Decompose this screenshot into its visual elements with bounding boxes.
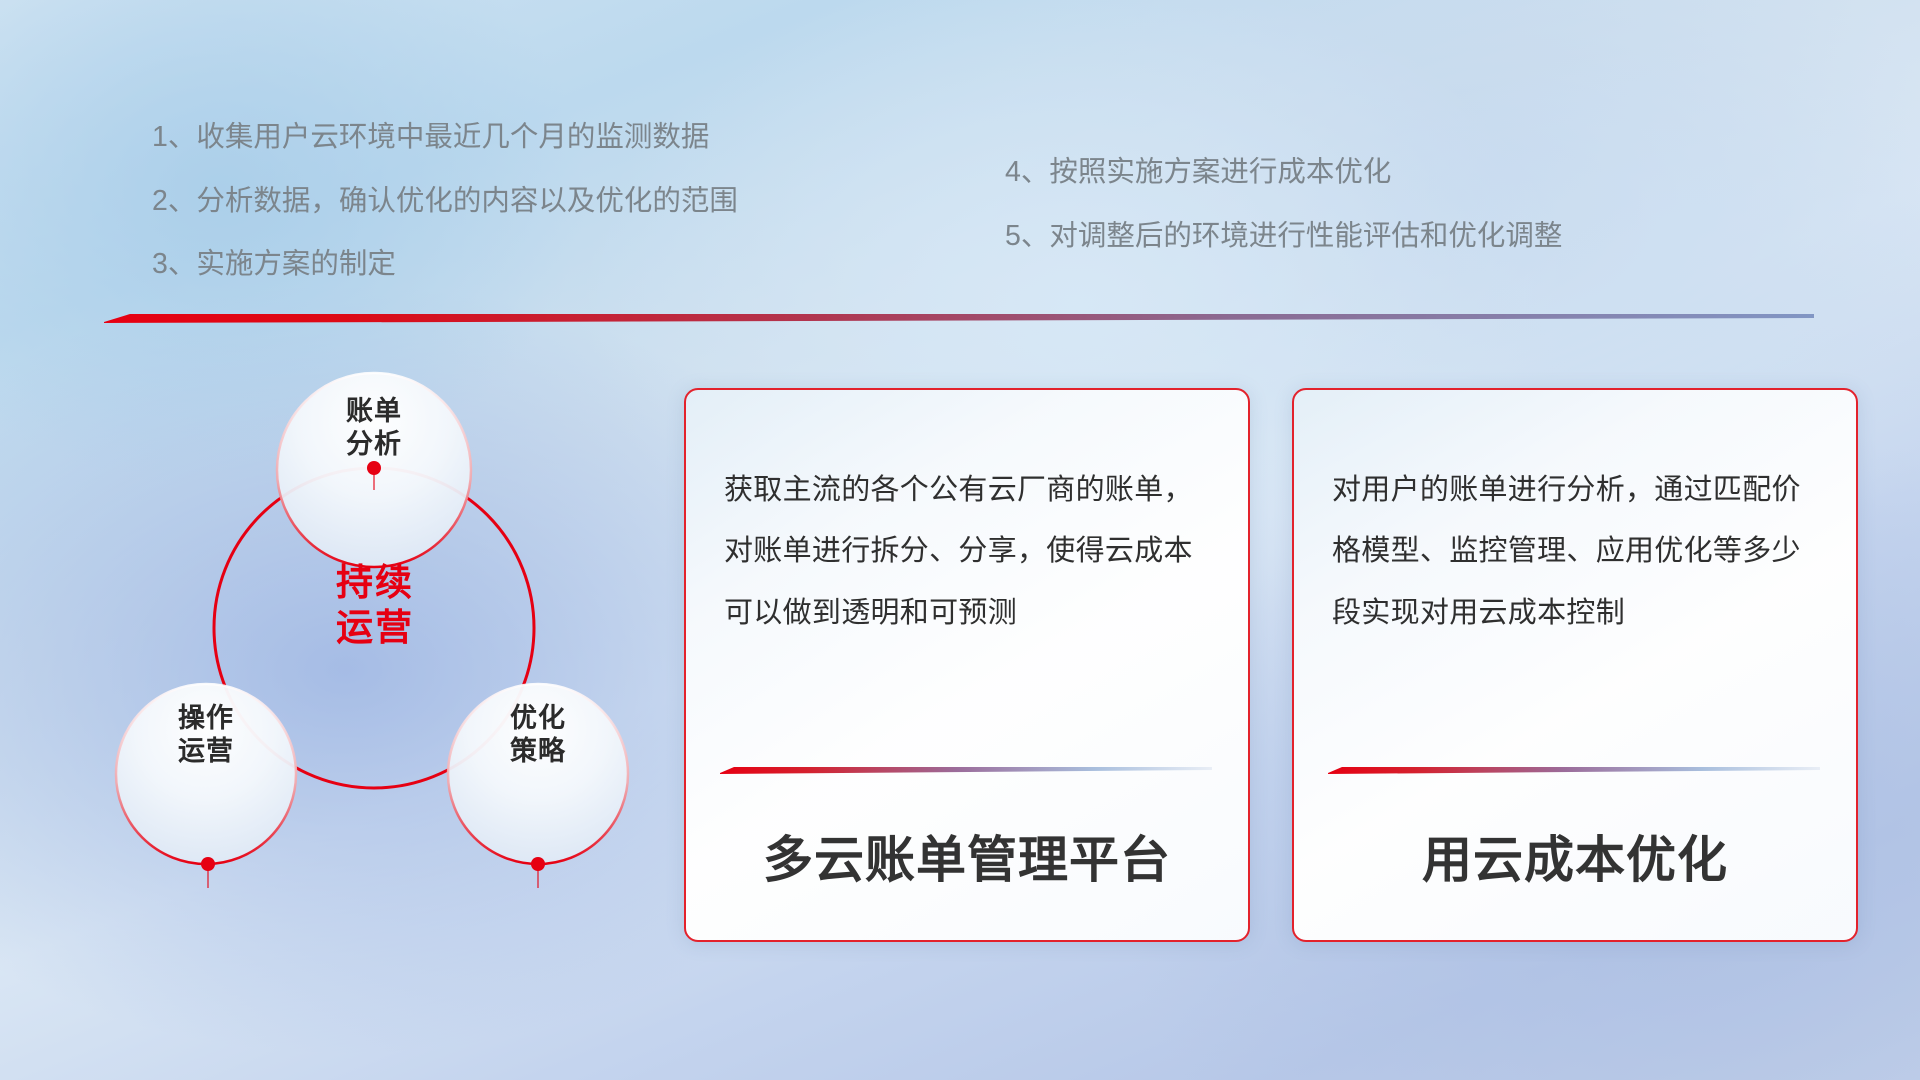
- card-divider: [720, 765, 1212, 774]
- card-body-text: 对用户的账单进行分析，通过匹配价格模型、监控管理、应用优化等多少段实现对用云成本…: [1332, 460, 1826, 644]
- process-list-item: 2、分析数据，确认优化的内容以及优化的范围: [152, 187, 738, 216]
- venn-dot-right: [531, 857, 545, 871]
- process-list-item: 1、收集用户云环境中最近几个月的监测数据: [152, 123, 738, 152]
- card-title: 多云账单管理平台: [686, 820, 1248, 892]
- card-multi-cloud-billing-platform[interactable]: 获取主流的各个公有云厂商的账单，对账单进行拆分、分享，使得云成本可以做到透明和可…: [684, 388, 1250, 942]
- venn-dot-top: [367, 461, 381, 475]
- card-title: 用云成本优化: [1294, 820, 1856, 892]
- slide-canvas: 1、收集用户云环境中最近几个月的监测数据 2、分析数据，确认优化的内容以及优化的…: [0, 0, 1920, 1080]
- process-list-right: 4、按照实施方案进行成本优化 5、对调整后的环境进行性能评估和优化调整: [1005, 158, 1562, 250]
- process-list-left: 1、收集用户云环境中最近几个月的监测数据 2、分析数据，确认优化的内容以及优化的…: [152, 123, 738, 279]
- venn-diagram: [86, 340, 646, 960]
- venn-node-operations: [116, 684, 296, 864]
- venn-node-optimization: [448, 684, 628, 864]
- card-body-text: 获取主流的各个公有云厂商的账单，对账单进行拆分、分享，使得云成本可以做到透明和可…: [724, 460, 1218, 644]
- card-cloud-cost-optimization[interactable]: 对用户的账单进行分析，通过匹配价格模型、监控管理、应用优化等多少段实现对用云成本…: [1292, 388, 1858, 942]
- venn-dot-left: [201, 857, 215, 871]
- process-list-item: 3、实施方案的制定: [152, 250, 738, 279]
- process-list-item: 5、对调整后的环境进行性能评估和优化调整: [1005, 222, 1562, 251]
- card-divider: [1328, 765, 1820, 774]
- process-list-item: 4、按照实施方案进行成本优化: [1005, 158, 1562, 187]
- section-divider: [104, 310, 1814, 324]
